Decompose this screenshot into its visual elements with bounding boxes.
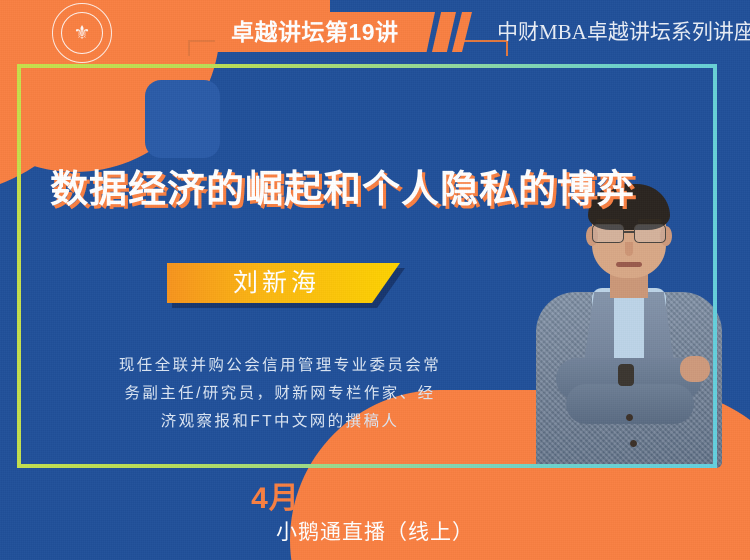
speaker-name-label: 刘新海 <box>233 271 334 296</box>
university-logo-icon: ⚜ <box>52 3 112 63</box>
portrait-mouth <box>616 262 642 267</box>
lecture-number-label: 卓越讲坛第19讲 <box>231 21 399 44</box>
portrait-nose <box>625 242 633 256</box>
portrait-brow-left <box>596 219 620 223</box>
portrait-glasses-icon <box>592 224 666 241</box>
event-venue: 小鹅通直播（线上） <box>0 522 750 543</box>
speaker-bio: 现任全联并购公会信用管理专业委员会常 务副主任/研究员，财新网专栏作家、经 济观… <box>60 352 500 436</box>
speaker-portrait-photo <box>530 188 726 468</box>
bio-line: 现任全联并购公会信用管理专业委员会常 <box>60 352 500 380</box>
series-title-label: 中财MBA卓越讲坛系列讲座 <box>497 16 750 46</box>
lecture-number-banner: 卓越讲坛第19讲 <box>215 12 417 52</box>
blue-rounded-square-accent <box>145 80 220 158</box>
bio-line: 务副主任/研究员，财新网专栏作家、经 <box>60 380 500 408</box>
lecture-title: 数据经济的崛起和个人隐私的博弈 <box>50 158 635 213</box>
portrait-jacket-button-2 <box>630 440 637 447</box>
event-datetime: 4月20日晚19：30 <box>0 484 750 514</box>
portrait-hand <box>680 356 710 382</box>
portrait-jacket-button-1 <box>626 414 633 421</box>
logo-crest-glyph: ⚜ <box>73 24 90 43</box>
logo-inner-ring: ⚜ <box>61 12 103 54</box>
bio-line: 济观察报和FT中文网的撰稿人 <box>60 408 500 436</box>
portrait-brow-right <box>638 219 662 223</box>
portrait-wristwatch <box>618 364 634 386</box>
speaker-name-badge: 刘新海 <box>167 263 400 303</box>
banner-slash-icon-1 <box>432 12 456 52</box>
event-poster: ⚜ 卓越讲坛第19讲 中财MBA卓越讲坛系列讲座 数据经济的崛起和个 <box>0 0 750 560</box>
banner-tail-shape <box>405 12 435 52</box>
